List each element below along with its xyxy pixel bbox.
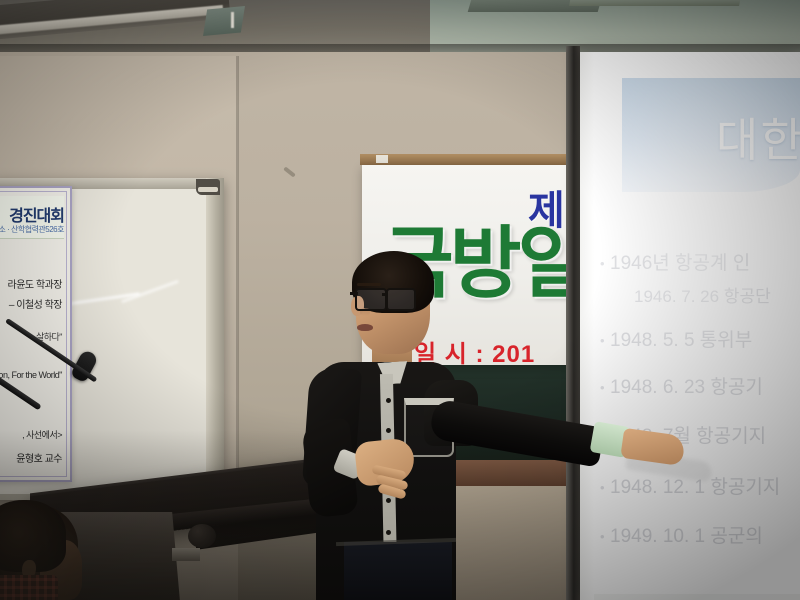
- bullet-dot-icon: •: [600, 256, 610, 271]
- shirt-button: [386, 498, 391, 503]
- glasses-temple-arm: [350, 292, 358, 295]
- whiteboard-marker-pen: [198, 187, 218, 192]
- light-endcap: [203, 6, 245, 36]
- speaker-eyebrow: [357, 283, 381, 286]
- poster-line-4: ion, For the World": [0, 370, 66, 380]
- light-glint: [231, 12, 234, 28]
- lower-shadow: [0, 430, 340, 600]
- slide-bullet-row: 1946. 7. 26 항공단: [634, 282, 800, 307]
- bullet-dot-icon: •: [600, 480, 610, 495]
- speaker-trousers: [344, 542, 452, 600]
- slide-bullet-list: •1946년 항공계 인 1946. 7. 26 항공단 •1948. 5. 5…: [600, 248, 800, 561]
- glasses-icon: [355, 288, 387, 311]
- presentation-photo: 제 국방일 일 시 : 201 경진대회 소 · 산학협력관526호 라윤도 학…: [0, 0, 800, 600]
- screen-white-border: [580, 52, 594, 600]
- poster-title: 경진대회: [0, 202, 68, 226]
- slide-bullet-row: •1948. 6. 23 항공기: [600, 372, 800, 399]
- bullet-dot-icon: •: [600, 380, 610, 395]
- slide-title-text: 대한: [716, 104, 800, 170]
- slide-bullet-row: •1949. 10. 1 공군의: [600, 521, 800, 548]
- slide-bullet-row: •1948. 5. 5 통위부: [600, 325, 800, 352]
- ceiling-mount-plate-secondary: [569, 0, 741, 6]
- poster-subtitle: 소 · 산학협력관526호: [0, 224, 70, 235]
- banner-clip: [376, 155, 388, 163]
- glasses-right-lens: [386, 288, 416, 311]
- slide-bullet-text: 1946년 항공계 인: [610, 253, 750, 274]
- poster-line-2: – 이철성 학장: [0, 296, 66, 311]
- glasses-bridge: [382, 293, 388, 296]
- slide-bullet-text: 1946. 7. 26 항공단: [634, 287, 771, 306]
- banner-rail: [360, 154, 578, 165]
- speaker-mouth: [357, 324, 373, 331]
- slide-bullet-row: •1946년 항공계 인: [600, 248, 800, 275]
- shirt-button: [386, 530, 391, 535]
- poster-line-1: 라윤도 학과장: [0, 276, 66, 291]
- wall-seam: [236, 56, 239, 476]
- screen-left-edge: [566, 46, 580, 600]
- slide-bullet-text: 1948. 6. 23 항공기: [610, 377, 763, 398]
- bullet-dot-icon: •: [600, 333, 610, 348]
- shirt-button: [386, 398, 391, 403]
- slide-bullet-text: 1948. 5. 5 통위부: [610, 330, 752, 351]
- bullet-dot-icon: •: [600, 529, 610, 544]
- shirt-button: [386, 428, 391, 433]
- slide-bullet-text: 1949. 10. 1 공군의: [610, 526, 763, 547]
